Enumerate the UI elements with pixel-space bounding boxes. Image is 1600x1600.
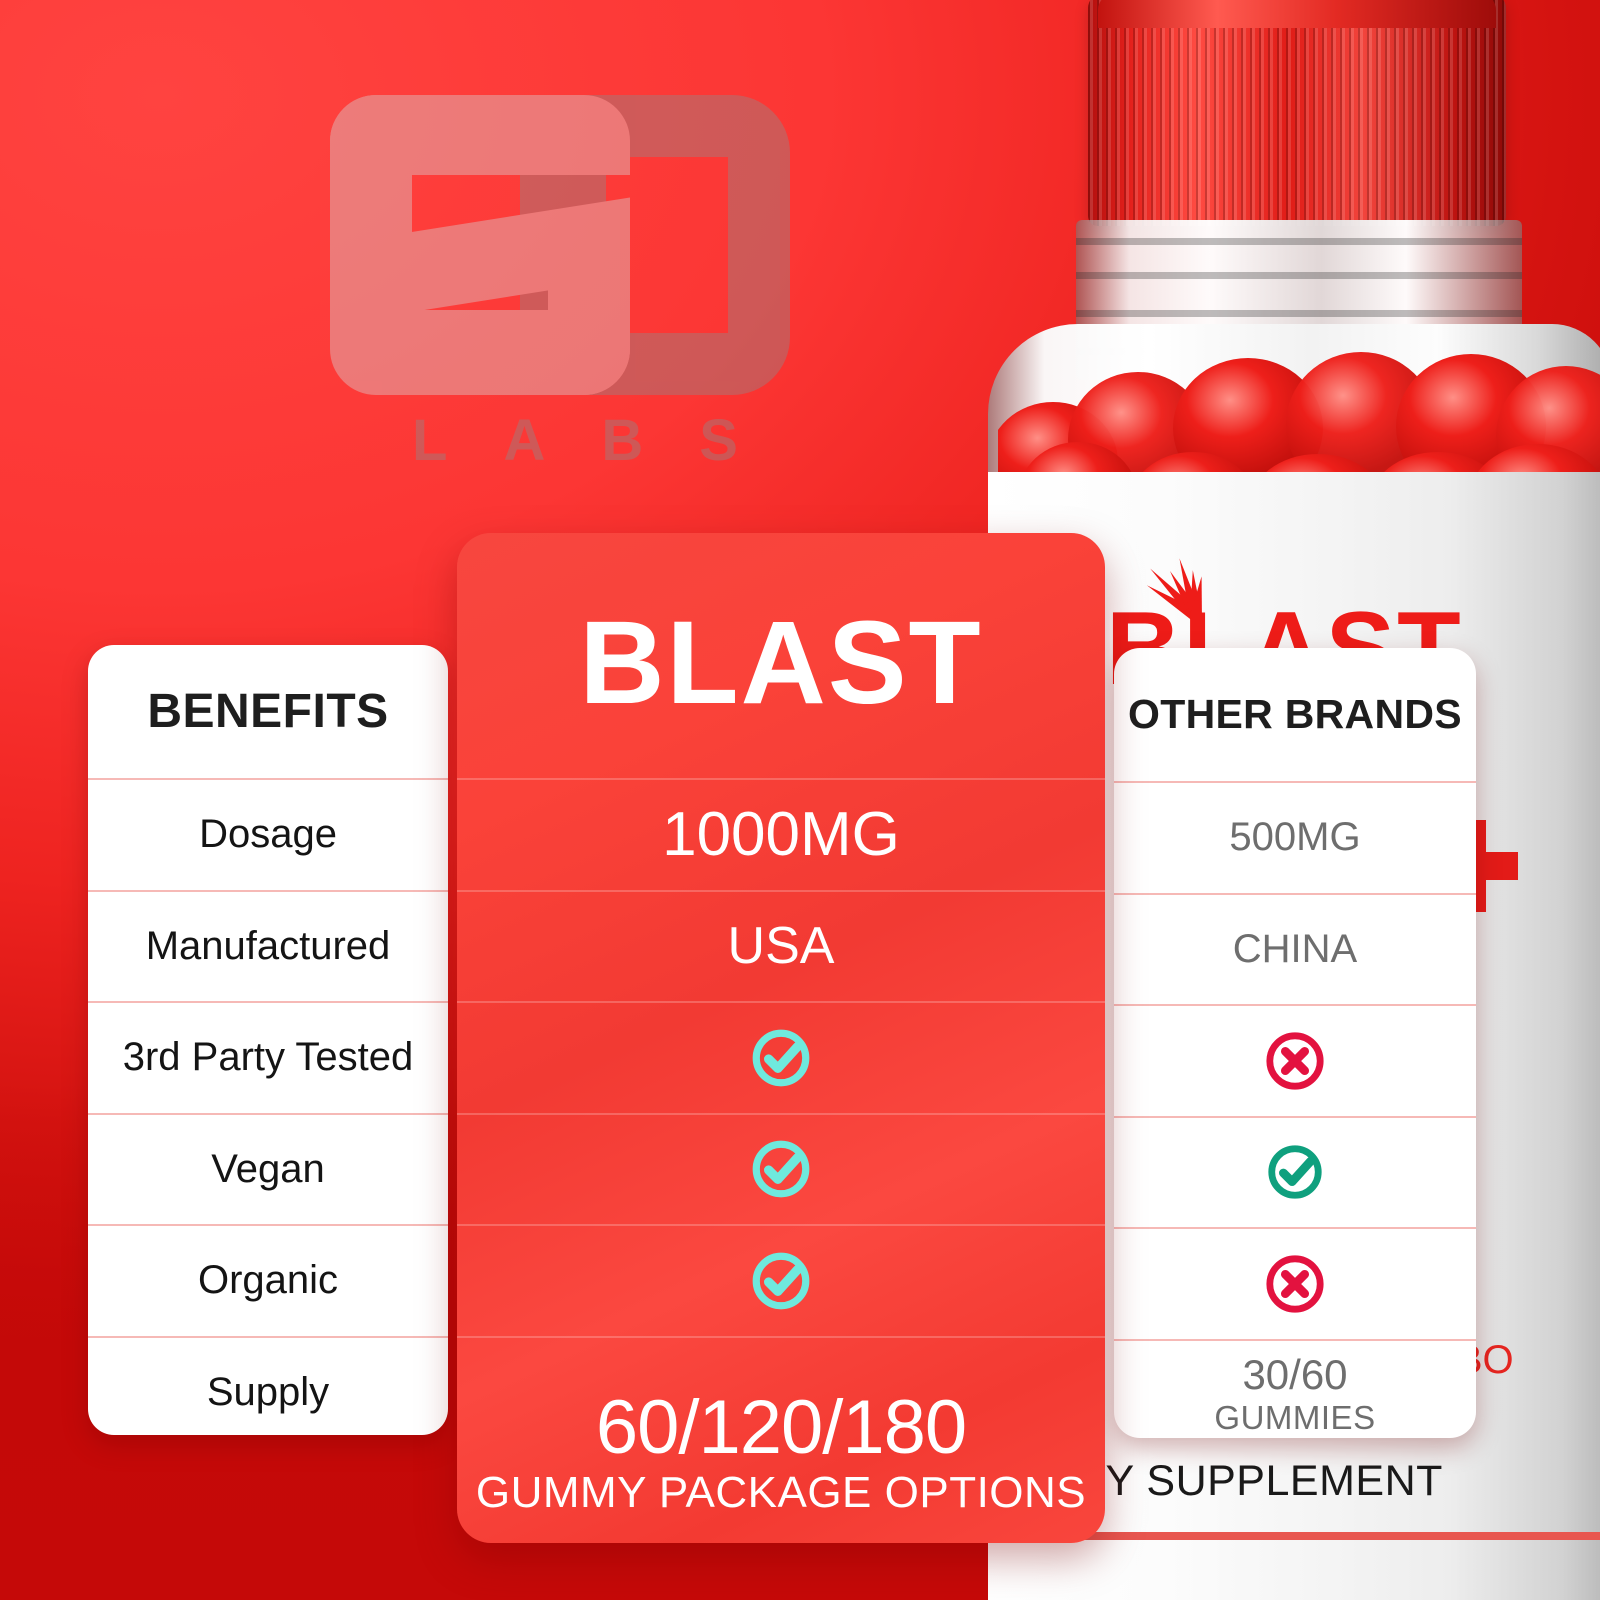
blast-column: BLAST 1000MG USA (457, 533, 1105, 1543)
other-supply-count: 30/60 (1242, 1353, 1347, 1397)
other-supply-unit: GUMMIES (1214, 1399, 1375, 1437)
check-circle-icon (748, 1025, 814, 1091)
benefit-label-manufactured: Manufactured (88, 890, 448, 1002)
other-value-3rd-party-tested (1114, 1004, 1476, 1116)
other-value-manufactured: CHINA (1114, 893, 1476, 1005)
other-value-dosage: 500MG (1114, 781, 1476, 893)
benefit-label-vegan: Vegan (88, 1113, 448, 1225)
cross-icon (1264, 1030, 1326, 1092)
benefit-label-supply: Supply (88, 1336, 448, 1436)
other-value-supply: 30/60 GUMMIES (1114, 1339, 1476, 1439)
blast-value-dosage: 1000MG (457, 778, 1105, 890)
other-value-vegan (1114, 1116, 1476, 1228)
blast-value-organic (457, 1224, 1105, 1336)
benefits-column: BENEFITS Dosage Manufactured 3rd Party T… (88, 645, 448, 1435)
check-circle-icon (1264, 1141, 1326, 1203)
blast-value-3rd-party-tested (457, 1001, 1105, 1113)
bottle-cap-top (1098, 0, 1496, 28)
watermark-letter-s (330, 95, 630, 395)
blast-value-supply: 60/120/180 GUMMY PACKAGE OPTIONS (457, 1336, 1105, 1544)
blast-supply-unit: GUMMY PACKAGE OPTIONS (476, 1468, 1086, 1518)
check-circle-icon (748, 1248, 814, 1314)
cross-icon (1264, 1253, 1326, 1315)
infographic-canvas: LABS BLAST and BO TARY SUPPLEMENT BENEFI… (0, 0, 1600, 1600)
other-brands-column-header: OTHER BRANDS (1114, 648, 1476, 781)
watermark-labs-text: LABS (340, 407, 810, 474)
blast-value-vegan (457, 1113, 1105, 1225)
benefit-label-dosage: Dosage (88, 778, 448, 890)
benefit-label-3rd-party-tested: 3rd Party Tested (88, 1001, 448, 1113)
bottle-cap (1088, 0, 1506, 226)
blast-supply-count: 60/120/180 (596, 1389, 966, 1467)
blast-column-header: BLAST (457, 533, 1105, 778)
check-circle-icon (748, 1136, 814, 1202)
other-value-organic (1114, 1227, 1476, 1339)
blast-value-manufactured: USA (457, 890, 1105, 1002)
other-brands-column: OTHER BRANDS 500MG CHINA (1114, 648, 1476, 1438)
sd-labs-watermark-logo: LABS (330, 95, 820, 475)
benefit-label-organic: Organic (88, 1224, 448, 1336)
benefits-column-header: BENEFITS (88, 645, 448, 778)
